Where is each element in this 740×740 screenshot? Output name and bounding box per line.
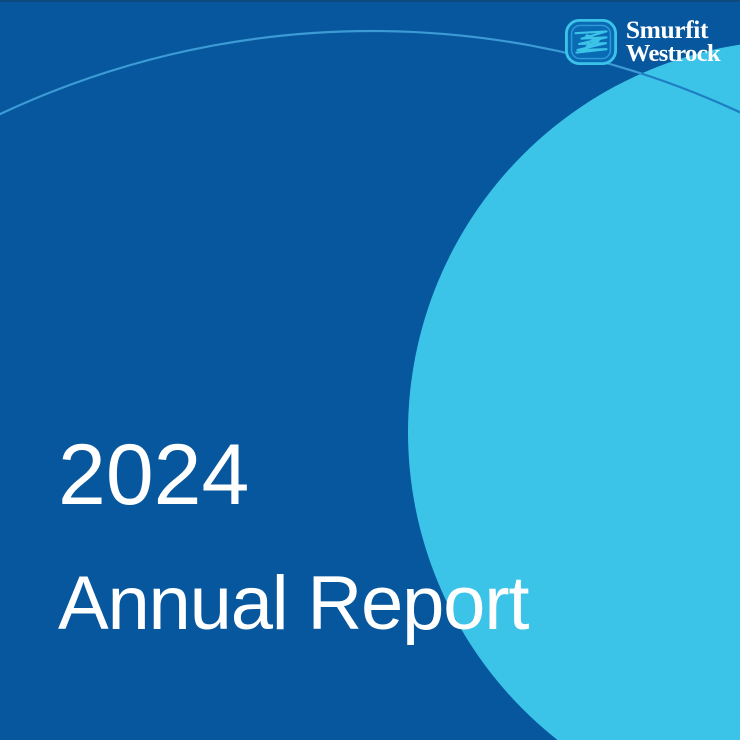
smurfit-westrock-wave-mark-icon xyxy=(565,19,617,65)
top-edge-strip xyxy=(0,0,740,2)
report-title: Annual Report xyxy=(58,566,528,642)
report-cover-page: Smurfit Westrock 2024 Annual Report xyxy=(0,0,740,740)
brand-logo-lockup: Smurfit Westrock xyxy=(565,18,720,65)
brand-name-line-2: Westrock xyxy=(626,42,720,65)
brand-wordmark: Smurfit Westrock xyxy=(626,18,720,65)
cover-title-block: 2024 Annual Report xyxy=(58,432,528,642)
brand-name-line-1: Smurfit xyxy=(626,18,720,42)
report-year: 2024 xyxy=(58,432,528,518)
